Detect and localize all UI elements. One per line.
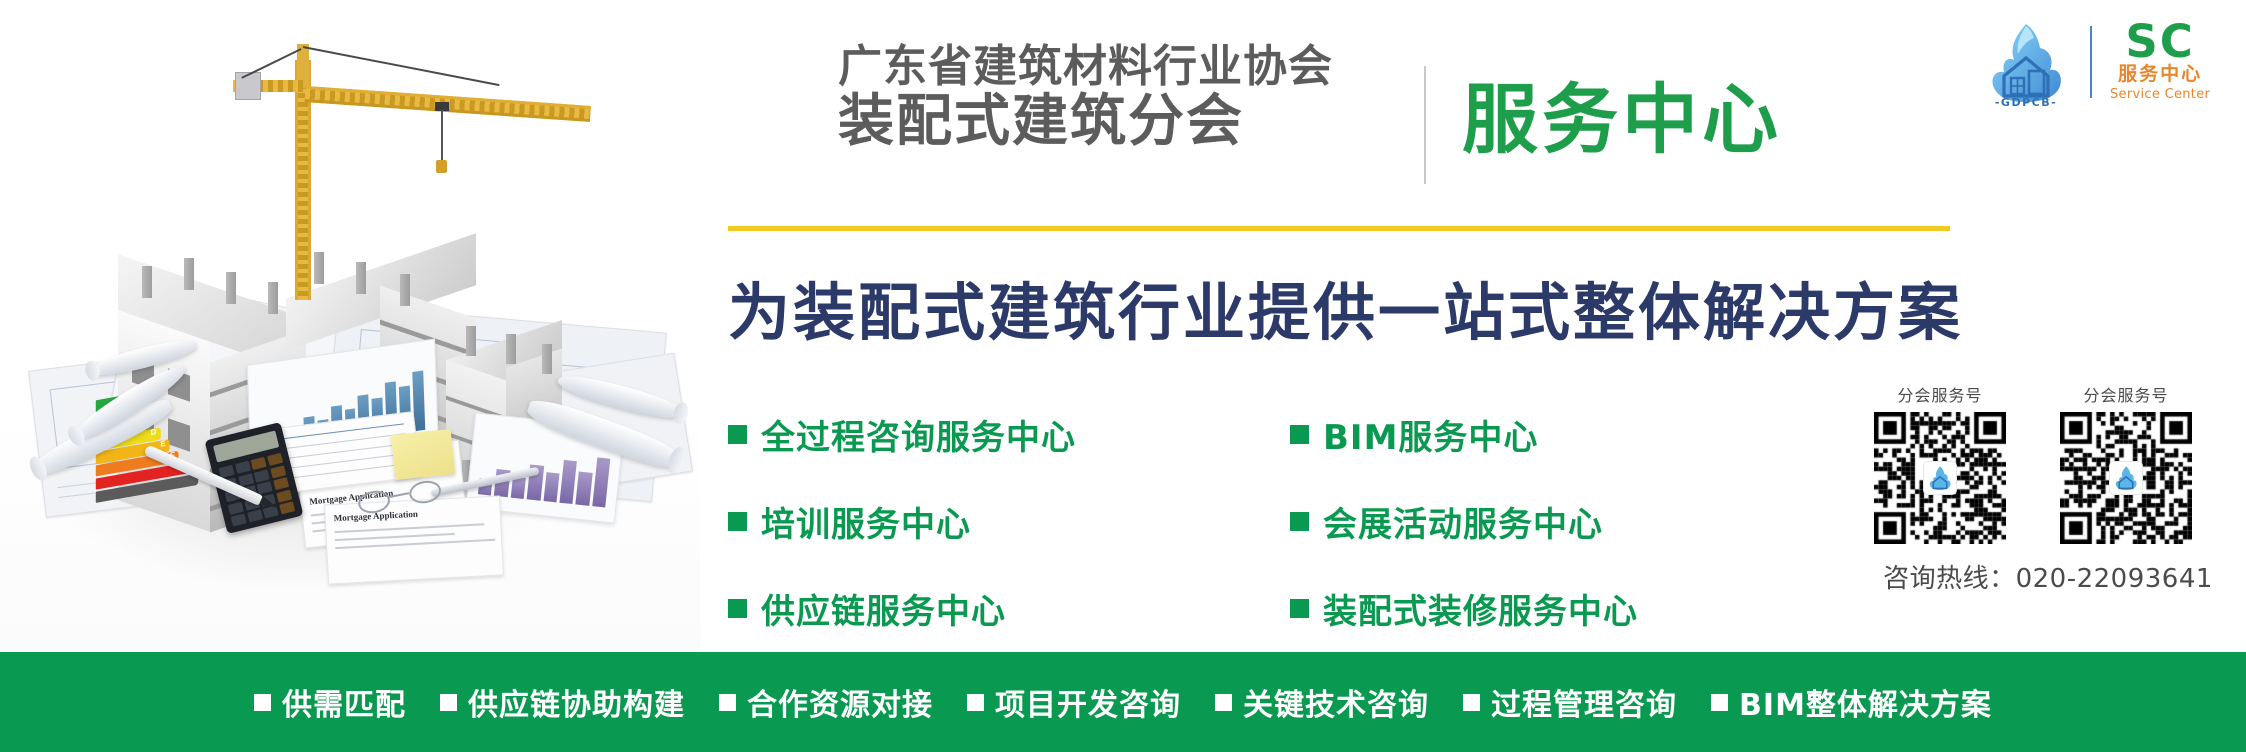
crane-hook: [436, 160, 447, 173]
service-item-label: 装配式装修服务中心: [1323, 584, 1638, 633]
service-item-label: 培训服务中心: [761, 497, 971, 546]
footer-bar: 供需匹配 供应链协助构建 合作资源对接 项目开发咨询 关键技术咨询 过程管理咨询…: [0, 652, 2246, 752]
logo-divider: [2090, 26, 2092, 98]
service-item[interactable]: BIM服务中心: [1290, 410, 1638, 459]
service-item-label: 供应链服务中心: [761, 584, 1006, 633]
service-list-left: 全过程咨询服务中心 培训服务中心 供应链服务中心: [728, 410, 1076, 671]
logo-wordmark: SC 服务中心 Service Center: [2110, 21, 2210, 104]
qr-label: 分会服务号: [2048, 382, 2204, 406]
org-name-line2: 装配式建筑分会: [838, 91, 1333, 153]
service-item[interactable]: 供应链服务中心: [728, 584, 1076, 633]
footer-item[interactable]: 关键技术咨询: [1215, 680, 1429, 724]
footer-item[interactable]: 项目开发咨询: [967, 680, 1181, 724]
logo-chinese-text: 服务中心: [2110, 63, 2210, 87]
bullet-square-icon: [1290, 512, 1309, 531]
qr-item[interactable]: 分会服务号: [1862, 382, 2018, 544]
footer-item-label: 供需匹配: [282, 680, 406, 724]
bullet-square-icon: [254, 694, 271, 711]
crane-cable: [441, 110, 443, 162]
service-center-title: 服务中心: [1462, 58, 1782, 168]
bullet-square-icon: [728, 425, 747, 444]
footer-item[interactable]: 供需匹配: [254, 680, 406, 724]
bullet-square-icon: [1463, 694, 1480, 711]
footer-item-label: 合作资源对接: [747, 680, 933, 724]
service-item-label: 全过程咨询服务中心: [761, 410, 1076, 459]
logo-caption: -GDPCB-: [1980, 96, 2072, 109]
brand-logo: -GDPCB- SC 服务中心 Service Center: [1980, 14, 2230, 110]
title-divider: [1424, 66, 1426, 184]
bullet-square-icon: [1215, 694, 1232, 711]
bullet-square-icon: [719, 694, 736, 711]
bullet-square-icon: [1290, 425, 1309, 444]
qr-code-image[interactable]: [1874, 412, 2006, 544]
bullet-square-icon: [1290, 599, 1309, 618]
house-flame-icon: -GDPCB-: [1980, 16, 2072, 108]
service-item[interactable]: 培训服务中心: [728, 497, 1076, 546]
service-list-right: BIM服务中心 会展活动服务中心 装配式装修服务中心: [1290, 410, 1638, 671]
construction-illustration: Mortgage Application Mortgage Applicatio…: [0, 0, 700, 652]
footer-item[interactable]: 过程管理咨询: [1463, 680, 1677, 724]
qr-row: 分会服务号 分会服务号: [1862, 382, 2234, 544]
bullet-square-icon: [728, 599, 747, 618]
org-name-line1: 广东省建筑材料行业协会: [838, 42, 1333, 91]
service-item-label: 会展活动服务中心: [1323, 497, 1603, 546]
sticky-note: [391, 429, 455, 480]
qr-code-image[interactable]: [2060, 412, 2192, 544]
footer-item[interactable]: 供应链协助构建: [440, 680, 685, 724]
bullet-square-icon: [440, 694, 457, 711]
hotline-text: 咨询热线：020-22093641: [1862, 558, 2234, 595]
organization-title: 广东省建筑材料行业协会 装配式建筑分会: [838, 42, 1333, 153]
footer-item-label: 关键技术咨询: [1243, 680, 1429, 724]
qr-center-logo-icon: [1924, 462, 1956, 494]
footer-item-label: 供应链协助构建: [468, 680, 685, 724]
tower-crane-icon: [295, 40, 595, 300]
service-item[interactable]: 全过程咨询服务中心: [728, 410, 1076, 459]
bullet-square-icon: [967, 694, 984, 711]
bullet-square-icon: [728, 512, 747, 531]
footer-item-label: 过程管理咨询: [1491, 680, 1677, 724]
service-item[interactable]: 装配式装修服务中心: [1290, 584, 1638, 633]
crane-counterweight: [235, 72, 261, 100]
logo-english-text: Service Center: [2110, 87, 2210, 103]
qr-section: 分会服务号 分会服务号: [1862, 382, 2234, 595]
service-item[interactable]: 会展活动服务中心: [1290, 497, 1638, 546]
crane-tie-front: [303, 46, 500, 86]
main-tagline: 为装配式建筑行业提供一站式整体解决方案: [728, 262, 1963, 352]
footer-item-label: BIM整体解决方案: [1739, 680, 1992, 724]
bullet-square-icon: [1711, 694, 1728, 711]
promo-banner: Mortgage Application Mortgage Applicatio…: [0, 0, 2246, 752]
logo-sc-text: SC: [2110, 21, 2210, 64]
service-item-label: BIM服务中心: [1323, 410, 1538, 459]
qr-item[interactable]: 分会服务号: [2048, 382, 2204, 544]
footer-item-label: 项目开发咨询: [995, 680, 1181, 724]
gold-divider-rule: [728, 226, 1950, 231]
footer-item[interactable]: 合作资源对接: [719, 680, 933, 724]
qr-center-logo-icon: [2110, 462, 2142, 494]
qr-label: 分会服务号: [1862, 382, 2018, 406]
footer-item[interactable]: BIM整体解决方案: [1711, 680, 1992, 724]
